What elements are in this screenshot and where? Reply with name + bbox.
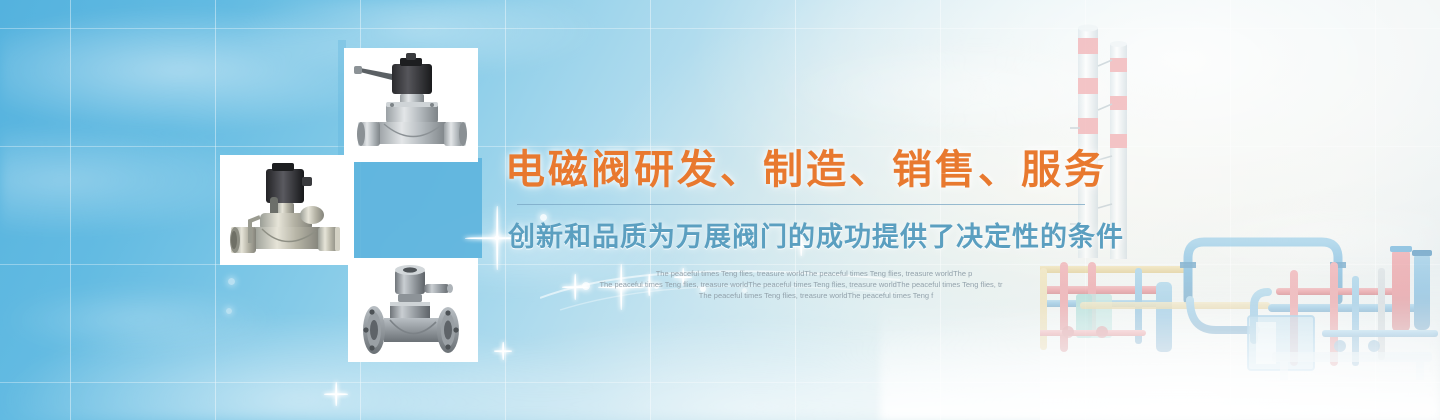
- hero-text-block: 电磁阀研发、制造、销售、服务 创新和品质为万展阀门的成功提供了决定性的条件 Th…: [505, 148, 1105, 301]
- blurb-line-1: The peaceful times Teng flies, treasure …: [523, 268, 1105, 279]
- blurb-line-2: The peaceful times Teng flies, treasure …: [497, 279, 1105, 290]
- product-card-1[interactable]: [344, 48, 478, 162]
- hero-blurb: The peaceful times Teng flies, treasure …: [505, 268, 1105, 301]
- product-card-2[interactable]: [220, 155, 354, 265]
- hero-subtitle: 创新和品质为万展阀门的成功提供了决定性的条件: [508, 215, 1105, 254]
- hero-title: 电磁阀研发、制造、销售、服务: [505, 148, 1105, 192]
- product-card-3[interactable]: [348, 258, 478, 362]
- solenoid-valve-brass-inline-icon: [220, 155, 354, 265]
- solenoid-valve-threaded-inline-icon: [344, 48, 478, 162]
- bokeh-dot-3: [226, 308, 232, 314]
- title-divider: [517, 204, 1085, 205]
- decor-tile-blue-1: [338, 158, 482, 258]
- blurb-line-3: The peaceful times Teng flies, treasure …: [527, 290, 1105, 301]
- sparkle-icon-6: [492, 340, 514, 362]
- hero-banner: 电磁阀研发、制造、销售、服务 创新和品质为万展阀门的成功提供了决定性的条件 Th…: [0, 0, 1440, 420]
- sparkle-icon-7: [322, 380, 350, 408]
- solenoid-valve-flanged-icon: [348, 258, 478, 362]
- bokeh-dot-2: [228, 278, 235, 285]
